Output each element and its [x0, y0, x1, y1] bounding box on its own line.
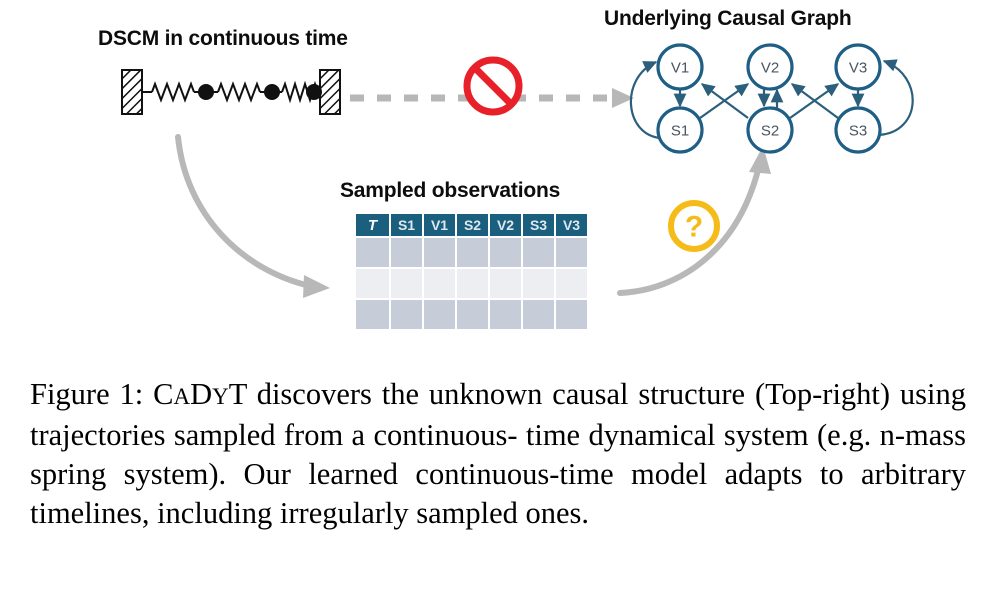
graph-node-label-v2: V2	[761, 60, 779, 77]
table-header-s1: S1	[391, 214, 422, 236]
mass-node	[264, 84, 280, 100]
figure-caption: Figure 1: CADYT discovers the unknown ca…	[30, 375, 966, 533]
causal-graph-diagram: V1 V2 V3 S1 S2 S3	[612, 36, 993, 166]
graph-node-label-s3: S3	[849, 123, 867, 140]
figure-image: DSCM in continuous time Sampled observat…	[0, 0, 993, 365]
table-header-v2: V2	[490, 214, 521, 236]
dscm-panel-title: DSCM in continuous time	[98, 28, 348, 49]
table-cell	[523, 269, 554, 298]
svg-text:?: ?	[685, 211, 703, 244]
table-row	[356, 238, 587, 267]
table-cell	[391, 269, 422, 298]
caption-acronym: CADYT	[153, 377, 247, 411]
table-cell	[556, 269, 587, 298]
sampled-observations-table: T S1 V1 S2 V2 S3 V3	[354, 212, 589, 331]
table-cell	[356, 300, 389, 329]
table-header-row: T S1 V1 S2 V2 S3 V3	[356, 214, 587, 236]
table-cell	[490, 269, 521, 298]
table-cell	[424, 269, 455, 298]
table-cell	[556, 300, 587, 329]
table-cell	[523, 238, 554, 267]
table-cell	[457, 269, 488, 298]
acronym-char-a: A	[173, 384, 190, 409]
table-cell	[457, 238, 488, 267]
graph-node-label-v3: V3	[849, 60, 867, 77]
table-cell	[356, 269, 389, 298]
acronym-char-d: D	[190, 377, 212, 411]
table-cell	[556, 238, 587, 267]
table-cell	[523, 300, 554, 329]
arrow-springs-to-table	[150, 120, 380, 305]
graph-node-label-s2: S2	[761, 123, 779, 140]
causal-graph-title: Underlying Causal Graph	[604, 8, 851, 29]
table-header-s3: S3	[523, 214, 554, 236]
table-row	[356, 269, 587, 298]
table-header-s2: S2	[457, 214, 488, 236]
table-cell	[490, 238, 521, 267]
mass-spring-system-icon	[118, 62, 348, 124]
mass-node	[198, 84, 214, 100]
table-header-v1: V1	[424, 214, 455, 236]
table-header-v3: V3	[556, 214, 587, 236]
table-cell	[457, 300, 488, 329]
graph-node-label-v1: V1	[671, 60, 689, 77]
edge-s3-v3-arc	[879, 61, 913, 135]
table-cell	[424, 238, 455, 267]
table-row	[356, 300, 587, 329]
table-cell	[391, 238, 422, 267]
mass-node	[306, 84, 322, 100]
edge-s1-v1-arc	[631, 62, 660, 138]
graph-node-label-s1: S1	[671, 123, 689, 140]
caption-label: Figure 1:	[30, 377, 143, 411]
table-header-time: T	[356, 214, 389, 236]
acronym-char-y: Y	[212, 384, 229, 409]
acronym-char-c: C	[153, 377, 173, 411]
table-cell	[391, 300, 422, 329]
caption-line5: including irregularly sampled ones.	[157, 496, 589, 530]
table-cell	[356, 238, 389, 267]
caption-line1-rest: discovers the unknown causal structure	[257, 377, 745, 411]
table-cell	[490, 300, 521, 329]
table-cell	[424, 300, 455, 329]
question-mark-badge-icon: ?	[664, 196, 724, 256]
prohibition-sign-icon	[462, 55, 524, 117]
acronym-char-t: T	[229, 377, 247, 411]
